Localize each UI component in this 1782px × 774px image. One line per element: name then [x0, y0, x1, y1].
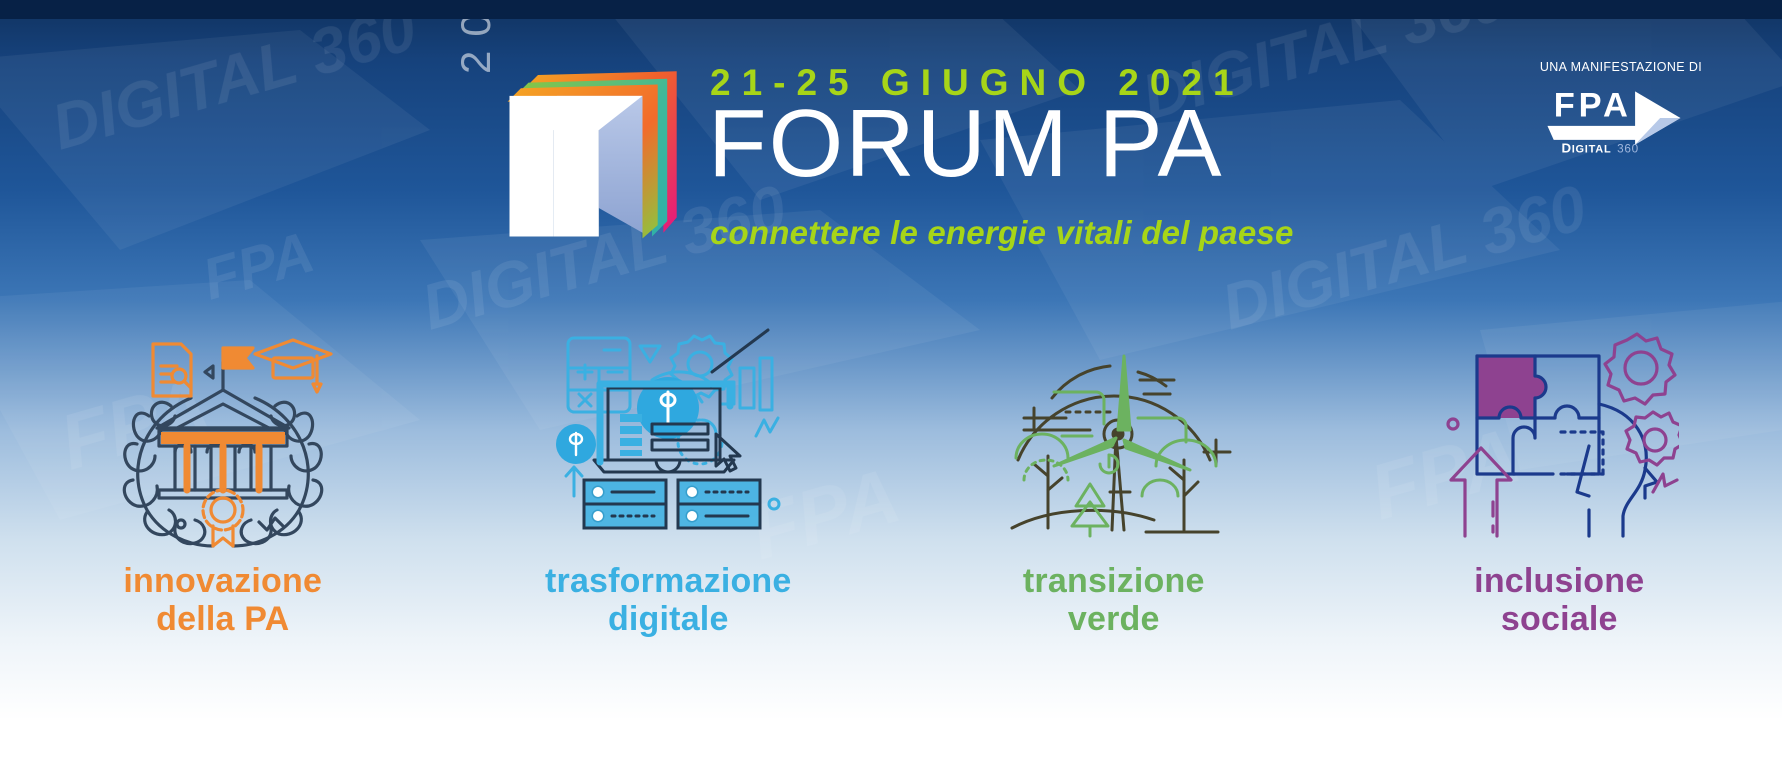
pillar-label-line1: trasformazione — [545, 562, 792, 600]
pillar-label-line2: sociale — [1474, 600, 1644, 638]
pillar-inclusione-sociale[interactable]: inclusione sociale — [1337, 320, 1782, 690]
pillars-row: innovazione della PA — [0, 320, 1782, 690]
svg-text:IGITAL: IGITAL — [1572, 143, 1612, 154]
government-building-icon — [103, 320, 343, 552]
pillar-label-line1: transizione — [1023, 562, 1205, 600]
pillar-label-line2: della PA — [123, 600, 322, 638]
svg-text:D: D — [1562, 140, 1572, 154]
puzzle-head-icon — [1439, 320, 1679, 552]
forum-pa-mark-icon — [500, 56, 690, 246]
top-bar — [0, 0, 1782, 19]
svg-text:360: 360 — [1617, 142, 1639, 154]
pillar-label-line1: inclusione — [1474, 562, 1644, 600]
fpa-digital360-logo-icon[interactable]: FPA D IGITAL 360 — [1541, 82, 1701, 154]
event-tagline: connettere le energie vitali del paese — [710, 214, 1294, 252]
pillar-label: inclusione sociale — [1474, 562, 1644, 638]
logo-block: 2021 — [460, 38, 1360, 243]
pillar-innovazione-della-pa[interactable]: innovazione della PA — [0, 320, 446, 690]
pillar-label-line2: verde — [1023, 600, 1205, 638]
pillar-label: innovazione della PA — [123, 562, 322, 638]
forum-pa-banner: DIGITAL 360 FPA DIGITAL 360 FPA DIGITAL … — [0, 0, 1782, 774]
laptop-servers-icon — [548, 320, 788, 552]
pillar-label-line2: digitale — [545, 600, 792, 638]
svg-text:FPA: FPA — [196, 219, 321, 312]
wind-turbine-icon — [994, 320, 1234, 552]
sponsor-block: UNA MANIFESTAZIONE DI FPA D IGITAL 360 — [1506, 60, 1736, 154]
sponsor-kicker: UNA MANIFESTAZIONE DI — [1506, 60, 1736, 74]
pillar-label-line1: innovazione — [123, 562, 322, 600]
pillar-label: transizione verde — [1023, 562, 1205, 638]
event-wordmark: FORUM PA — [708, 96, 1224, 192]
svg-text:FPA: FPA — [1554, 86, 1632, 124]
pillar-transizione-verde[interactable]: transizione verde — [891, 320, 1337, 690]
pillar-label: trasformazione digitale — [545, 562, 792, 638]
pillar-trasformazione-digitale[interactable]: trasformazione digitale — [446, 320, 892, 690]
